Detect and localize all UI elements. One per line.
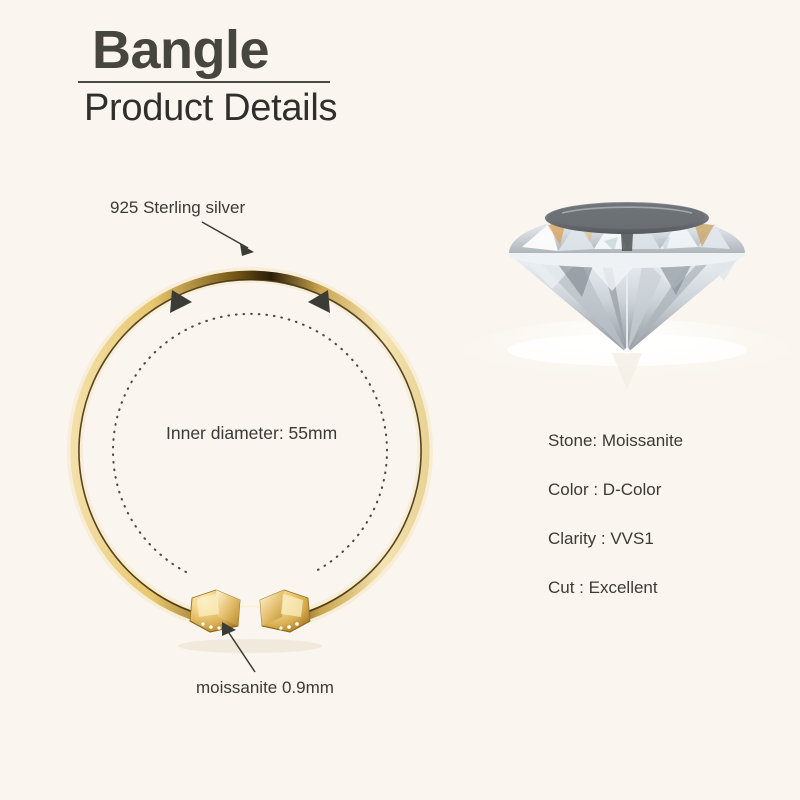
material-leader-line [202, 222, 254, 256]
bangle-terminal-left [190, 590, 240, 632]
page-title: Bangle [92, 22, 418, 79]
annotation-inner-diameter: Inner diameter: 55mm [166, 423, 337, 444]
annotation-material: 925 Sterling silver [110, 198, 245, 218]
annotation-stone-size: moissanite 0.9mm [196, 678, 334, 698]
product-detail-page: Bangle Product Details [0, 0, 800, 800]
stone-spec-list: Stone: Moissanite Color : D-Color Clarit… [548, 428, 778, 624]
spec-stone: Stone: Moissanite [548, 428, 778, 477]
diamond-image [462, 185, 792, 415]
title-divider [78, 81, 330, 83]
bangle-shadow [178, 639, 322, 653]
bangle-band [75, 275, 425, 620]
spec-color: Color : D-Color [548, 477, 778, 526]
spec-clarity: Clarity : VVS1 [548, 526, 778, 575]
header-block: Bangle Product Details [78, 22, 418, 130]
spec-cut: Cut : Excellent [548, 575, 778, 624]
bangle-terminal-right [260, 590, 310, 632]
page-subtitle: Product Details [84, 87, 418, 131]
